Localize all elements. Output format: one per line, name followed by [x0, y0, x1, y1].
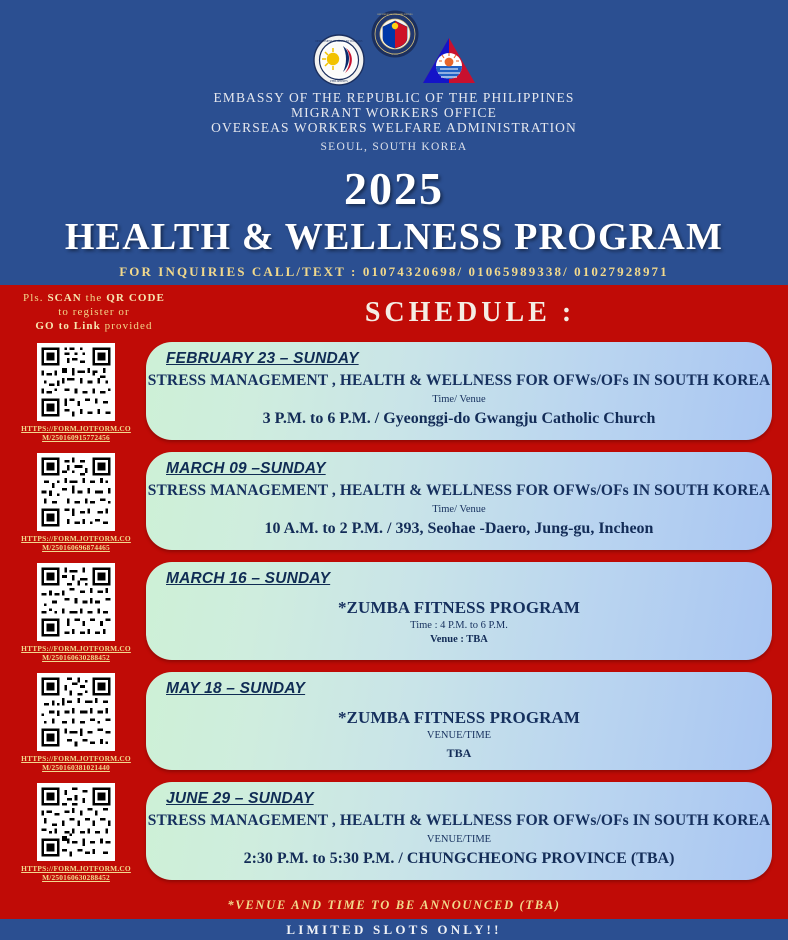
qr-cell[interactable]: HTTPS://FORM.JOTFORM.COM/250160381021440	[12, 673, 140, 772]
event-date: JUNE 29 – SUNDAY	[166, 790, 314, 808]
schedule-row: HTTPS://FORM.JOTFORM.COM/250160381021440…	[0, 670, 788, 780]
event-sublabel: VENUE/TIME	[146, 730, 772, 741]
event-date: MARCH 16 – SUNDAY	[166, 570, 330, 588]
inquiries-contact-line: FOR INQUIRIES CALL/TEXT : 01074320698/ 0…	[0, 264, 788, 280]
org-line-embassy: EMBASSY OF THE REPUBLIC OF THE PHILIPPIN…	[0, 90, 788, 105]
owwa-triangle-logo	[421, 36, 477, 91]
qr-link-text[interactable]: HTTPS://FORM.JOTFORM.COM/250160915772456	[12, 424, 140, 442]
qr-link-text[interactable]: HTTPS://FORM.JOTFORM.COM/250160630288452	[12, 864, 140, 882]
qr-code-icon[interactable]	[37, 563, 115, 641]
event-date: FEBRUARY 23 – SUNDAY	[166, 350, 359, 368]
event-date: MARCH 09 –SUNDAY	[166, 460, 326, 478]
event-card: MARCH 09 –SUNDAY STRESS MANAGEMENT , HEA…	[146, 452, 772, 550]
svg-text:DEPARTMENT OF MIGRANT WORKERS: DEPARTMENT OF MIGRANT WORKERS	[316, 40, 364, 43]
qr-note-golink: GO to Link	[35, 320, 100, 332]
qr-link-text[interactable]: HTTPS://FORM.JOTFORM.COM/250160381021440	[12, 754, 140, 772]
event-sublabel: Time : 4 P.M. to 6 P.M.	[146, 620, 772, 631]
event-heading: *ZUMBA FITNESS PROGRAM	[146, 598, 772, 618]
org-city: SEOUL, SOUTH KOREA	[0, 141, 788, 153]
qr-code-icon[interactable]	[37, 453, 115, 531]
qr-note-line-1: Pls. SCAN the QR CODE	[4, 291, 184, 305]
org-line-mwo: MIGRANT WORKERS OFFICE	[0, 105, 788, 120]
qr-code-icon[interactable]	[37, 783, 115, 861]
org-line-owwa: OVERSEAS WORKERS WELFARE ADMINISTRATION	[0, 120, 788, 135]
year-heading: 2025	[0, 162, 788, 215]
schedule-rows: HTTPS://FORM.JOTFORM.COM/250160915772456…	[0, 340, 788, 892]
qr-code-icon[interactable]	[37, 343, 115, 421]
event-heading: *ZUMBA FITNESS PROGRAM	[146, 708, 772, 728]
event-sublabel: VENUE/TIME	[146, 834, 772, 845]
qr-link-text[interactable]: HTTPS://FORM.JOTFORM.COM/250160696874465	[12, 534, 140, 552]
dmw-seal-logo: DEPARTMENT OF MIGRANT WORKERS PHILIPPINE…	[313, 34, 365, 91]
schedule-row: HTTPS://FORM.JOTFORM.COM/250160630288452…	[0, 560, 788, 670]
event-card: MARCH 16 – SUNDAY *ZUMBA FITNESS PROGRAM…	[146, 562, 772, 660]
poster-header: DEPARTMENT OF MIGRANT WORKERS PHILIPPINE…	[0, 0, 788, 285]
event-heading: STRESS MANAGEMENT , HEALTH & WELLNESS FO…	[146, 812, 772, 830]
qr-cell[interactable]: HTTPS://FORM.JOTFORM.COM/250160696874465	[12, 453, 140, 552]
event-detail: Venue : TBA	[146, 634, 772, 645]
schedule-row: HTTPS://FORM.JOTFORM.COM/250160915772456…	[0, 340, 788, 450]
philippine-republic-seal-logo: REPUBLIC OF THE PHILIPPINES SEOUL	[371, 10, 419, 63]
event-card: MAY 18 – SUNDAY *ZUMBA FITNESS PROGRAM V…	[146, 672, 772, 770]
event-detail: 2:30 P.M. to 5:30 P.M. / CHUNGCHEONG PRO…	[146, 850, 772, 868]
qr-note-pls: Pls.	[23, 292, 47, 304]
event-sublabel: Time/ Venue	[146, 394, 772, 405]
qr-note-line-2: to register or	[4, 305, 184, 319]
qr-note-line-3: GO to Link provided	[4, 319, 184, 333]
schedule-heading: SCHEDULE :	[190, 297, 750, 329]
event-card: FEBRUARY 23 – SUNDAY STRESS MANAGEMENT ,…	[146, 342, 772, 440]
qr-link-text[interactable]: HTTPS://FORM.JOTFORM.COM/250160630288452	[12, 644, 140, 662]
schedule-row: HTTPS://FORM.JOTFORM.COM/250160696874465…	[0, 450, 788, 560]
qr-instruction-note: Pls. SCAN the QR CODE to register or GO …	[4, 291, 184, 333]
qr-code-icon[interactable]	[37, 673, 115, 751]
tba-footnote: *VENUE AND TIME TO BE ANNOUNCED (TBA)	[0, 892, 788, 919]
poster: DEPARTMENT OF MIGRANT WORKERS PHILIPPINE…	[0, 0, 788, 940]
qr-cell[interactable]: HTTPS://FORM.JOTFORM.COM/250160630288452	[12, 563, 140, 662]
event-date: MAY 18 – SUNDAY	[166, 680, 305, 698]
event-detail: TBA	[146, 746, 772, 761]
svg-text:REPUBLIC OF THE PHILIPPINES: REPUBLIC OF THE PHILIPPINES	[377, 13, 413, 16]
event-detail: 10 A.M. to 2 P.M. / 393, Seohae -Daero, …	[146, 520, 772, 538]
event-card: JUNE 29 – SUNDAY STRESS MANAGEMENT , HEA…	[146, 782, 772, 880]
organization-names: EMBASSY OF THE REPUBLIC OF THE PHILIPPIN…	[0, 90, 788, 153]
qr-cell[interactable]: HTTPS://FORM.JOTFORM.COM/250160630288452	[12, 783, 140, 882]
qr-note-the: the	[82, 292, 106, 304]
qr-cell[interactable]: HTTPS://FORM.JOTFORM.COM/250160915772456	[12, 343, 140, 442]
svg-text:PHILIPPINES: PHILIPPINES	[330, 79, 348, 83]
svg-text:SEOUL: SEOUL	[391, 53, 399, 56]
event-sublabel: Time/ Venue	[146, 504, 772, 515]
logo-group: DEPARTMENT OF MIGRANT WORKERS PHILIPPINE…	[0, 4, 788, 88]
qr-note-qrcode: QR CODE	[106, 292, 165, 304]
page-title: HEALTH & WELLNESS PROGRAM	[0, 215, 788, 259]
qr-note-provided: provided	[101, 320, 153, 332]
schedule-row: HTTPS://FORM.JOTFORM.COM/250160630288452…	[0, 780, 788, 892]
event-heading: STRESS MANAGEMENT , HEALTH & WELLNESS FO…	[146, 482, 772, 500]
qr-note-scan: SCAN	[47, 292, 81, 304]
schedule-section: Pls. SCAN the QR CODE to register or GO …	[0, 285, 788, 892]
event-heading: STRESS MANAGEMENT , HEALTH & WELLNESS FO…	[146, 372, 772, 390]
limited-slots-banner: LIMITED SLOTS ONLY!!	[0, 919, 788, 940]
event-detail: 3 P.M. to 6 P.M. / Gyeonggi-do Gwangju C…	[146, 410, 772, 428]
